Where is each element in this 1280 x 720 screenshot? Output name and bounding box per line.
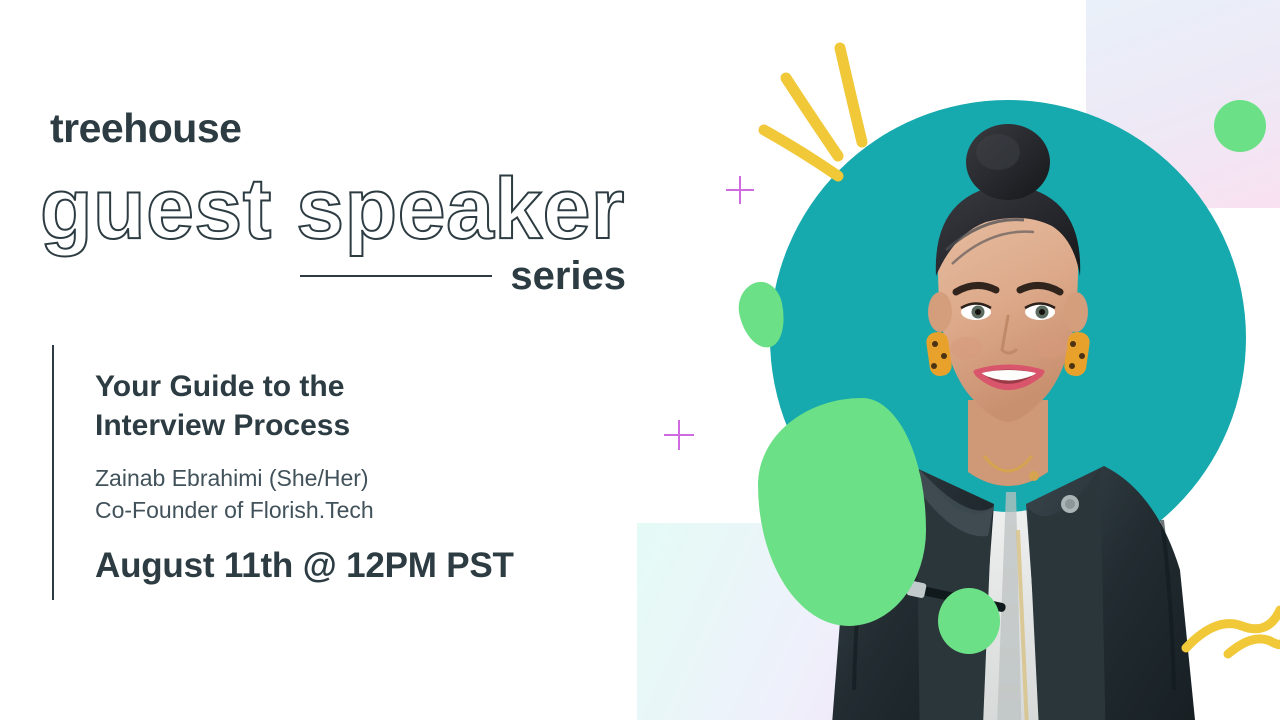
speaker-name: Zainab Ebrahimi (She/Her)	[95, 463, 514, 495]
pink-plus-lower	[664, 420, 694, 450]
series-divider-rule	[300, 275, 492, 277]
series-row: series	[300, 256, 626, 296]
promo-slide: treehouse guest speaker series Your Guid…	[0, 0, 1280, 720]
series-label: series	[510, 256, 626, 296]
green-dot	[938, 588, 1000, 654]
brand-wordmark: treehouse	[50, 108, 241, 149]
text-column: treehouse guest speaker series Your Guid…	[0, 0, 660, 720]
talk-title: Your Guide to the Interview Process	[95, 367, 514, 445]
headline-outlined: guest speaker	[40, 166, 625, 252]
event-details: Your Guide to the Interview Process Zain…	[52, 345, 514, 600]
green-dot-top	[1214, 100, 1266, 152]
speaker-role: Co-Founder of Florish.Tech	[95, 495, 514, 527]
event-date-time: August 11th @ 12PM PST	[95, 548, 514, 583]
pink-plus-upper	[726, 176, 754, 204]
